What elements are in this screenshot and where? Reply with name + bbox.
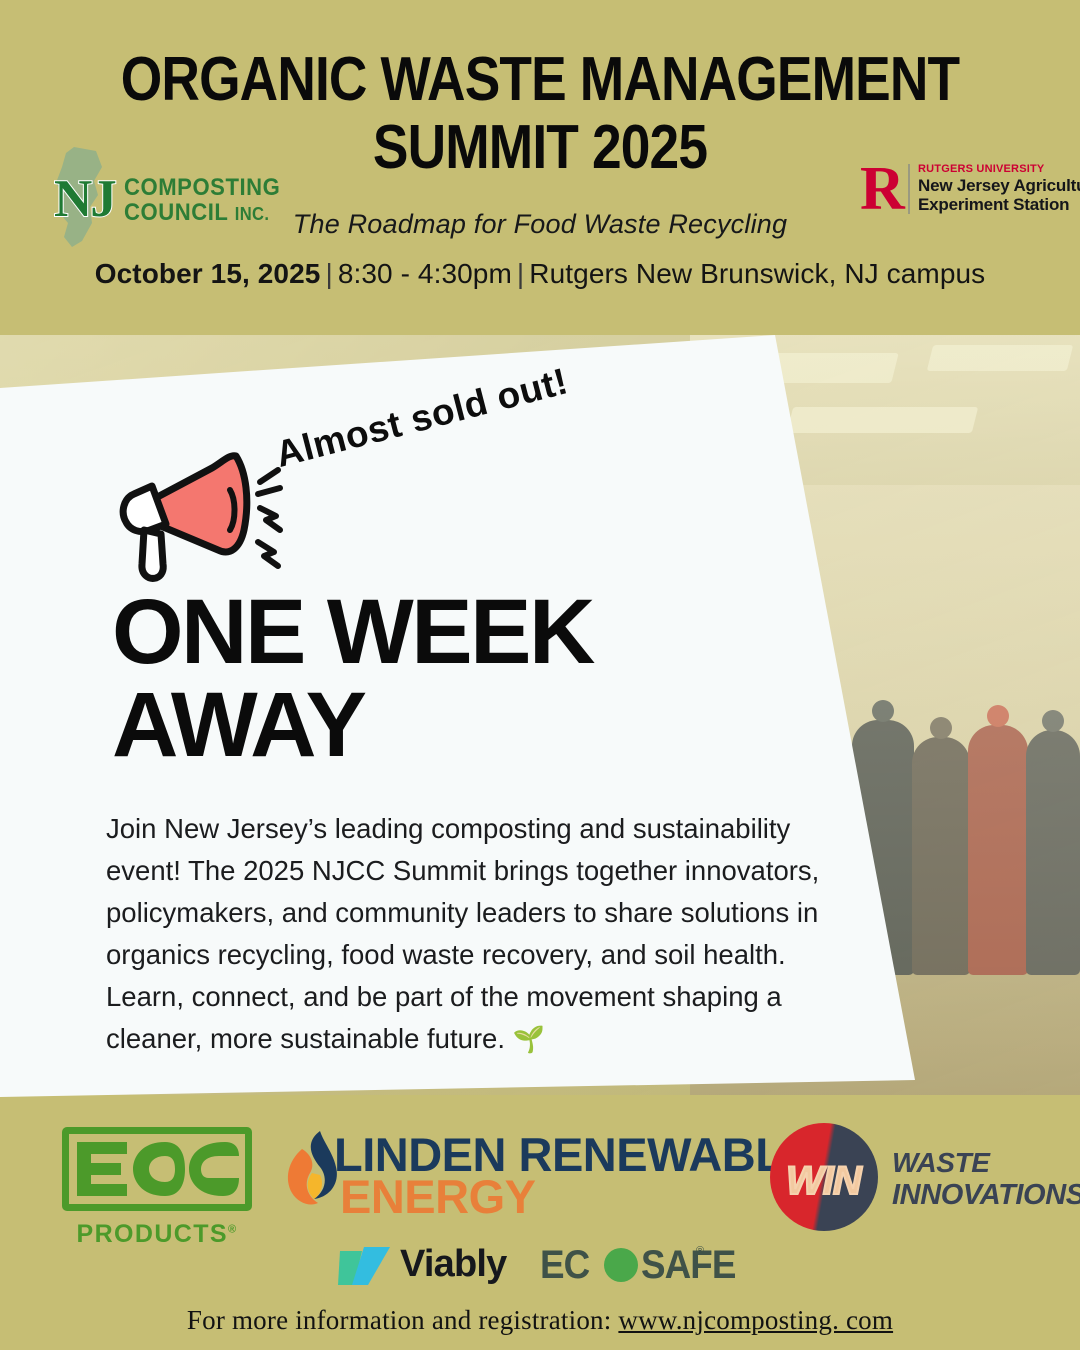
ecosafe-part-2: SAFE bbox=[641, 1243, 735, 1288]
detail-separator-1: | bbox=[320, 258, 337, 289]
ecosafe-part-1: EC bbox=[540, 1243, 589, 1288]
win-innovations-label: INNOVATIONS bbox=[892, 1179, 1080, 1211]
linden-flame-icon bbox=[278, 1129, 342, 1213]
njcc-line-2: COUNCIL INC. bbox=[124, 200, 280, 227]
ecosafe-registered-mark: ® bbox=[696, 1245, 704, 1257]
rutgers-line-1: RUTGERS UNIVERSITY bbox=[918, 162, 1080, 176]
body-paragraph: Join New Jersey’s leading composting and… bbox=[106, 808, 856, 1060]
headline: ONE WEEK AWAY bbox=[112, 586, 593, 772]
headline-line-2: AWAY bbox=[112, 679, 593, 772]
njcc-monogram: NJ bbox=[54, 173, 115, 226]
njcc-inc-text: INC. bbox=[235, 204, 270, 224]
sponsor-ecosafe-logo: EC SAFE ® bbox=[540, 1243, 710, 1295]
win-line-2: INNOVATIONS® bbox=[892, 1179, 1080, 1212]
eco-leaf-icon bbox=[69, 1134, 245, 1204]
event-time: 8:30 - 4:30pm bbox=[338, 258, 512, 289]
viably-check-icon bbox=[338, 1245, 400, 1289]
rutgers-wordmark: RUTGERS UNIVERSITY New Jersey Agricultur… bbox=[918, 162, 1080, 214]
event-date: October 15, 2025 bbox=[95, 258, 321, 289]
njcc-line-1: COMPOSTING bbox=[124, 175, 280, 200]
njcc-wordmark: COMPOSTING COUNCIL INC. bbox=[124, 175, 294, 227]
footer-prefix: For more information and registration: bbox=[187, 1305, 612, 1335]
sponsor-linden-renewable-logo: LINDEN RENEWABLE ENERGY bbox=[278, 1127, 748, 1232]
headline-line-1: ONE WEEK bbox=[112, 586, 593, 679]
registration-url[interactable]: www.njcomposting. com bbox=[618, 1305, 893, 1335]
rutgers-line-2: New Jersey Agricultural bbox=[918, 176, 1080, 195]
njcc-logo: NJ COMPOSTING COUNCIL INC. bbox=[30, 145, 260, 250]
rutgers-r-monogram: R bbox=[860, 158, 903, 220]
linden-line-2: ENERGY bbox=[340, 1169, 536, 1224]
event-flyer: ORGANIC WASTE MANAGEMENT SUMMIT 2025 The… bbox=[0, 0, 1080, 1350]
sponsor-win-waste-logo: WIN WASTE INNOVATIONS® bbox=[770, 1123, 1050, 1233]
footer-registration-line: For more information and registration: w… bbox=[0, 1305, 1080, 1336]
logo-divider bbox=[908, 164, 910, 214]
njcc-council-text: COUNCIL bbox=[124, 199, 228, 226]
eco-registered-mark: ® bbox=[228, 1224, 238, 1236]
sponsor-eco-products-logo: PRODUCTS® bbox=[62, 1127, 252, 1252]
megaphone-icon bbox=[108, 438, 288, 588]
eco-products-label: PRODUCTS bbox=[77, 1220, 228, 1248]
win-line-1: WASTE bbox=[892, 1147, 990, 1179]
rutgers-njaes-logo: R RUTGERS UNIVERSITY New Jersey Agricult… bbox=[860, 160, 1060, 222]
rutgers-line-3: Experiment Station bbox=[918, 195, 1080, 214]
event-location: Rutgers New Brunswick, NJ campus bbox=[529, 258, 985, 289]
globe-icon bbox=[604, 1248, 638, 1282]
eco-products-mark bbox=[62, 1127, 252, 1211]
win-circle-mark: WIN bbox=[770, 1123, 878, 1231]
body-text: Join New Jersey’s leading composting and… bbox=[106, 813, 819, 1054]
sponsor-viably-logo: Viably bbox=[338, 1243, 518, 1298]
eco-products-name: PRODUCTS® bbox=[62, 1220, 252, 1249]
win-monogram: WIN bbox=[786, 1159, 861, 1204]
title-line-1: ORGANIC WASTE MANAGEMENT bbox=[76, 46, 1005, 114]
sprout-icon: 🌱 bbox=[513, 1024, 545, 1054]
flyer-header: ORGANIC WASTE MANAGEMENT SUMMIT 2025 The… bbox=[0, 0, 1080, 335]
detail-separator-2: | bbox=[512, 258, 529, 289]
event-details-line: October 15, 2025|8:30 - 4:30pm|Rutgers N… bbox=[0, 258, 1080, 290]
viably-name: Viably bbox=[400, 1243, 506, 1286]
